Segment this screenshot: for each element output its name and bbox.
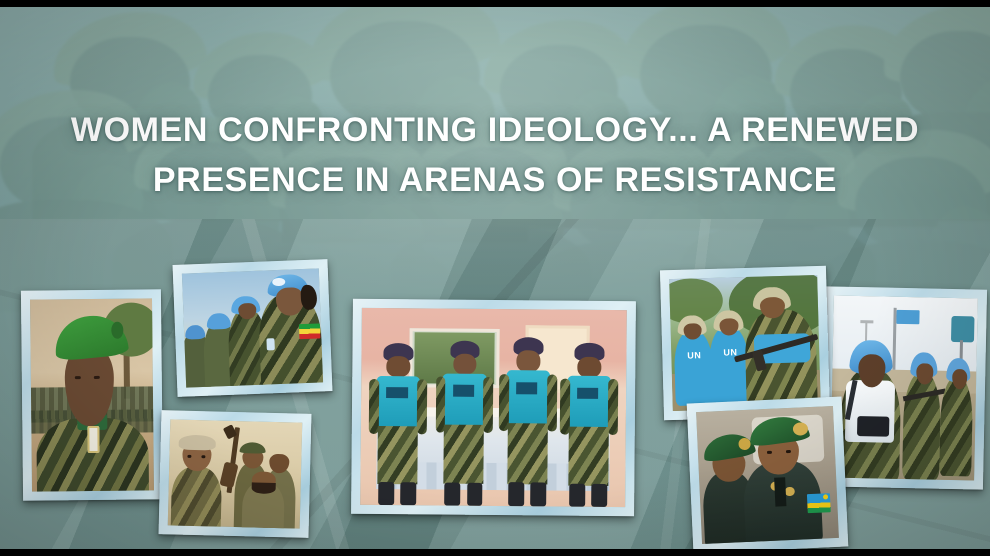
soldier-figure (437, 340, 491, 506)
letterbox-bar-top (0, 0, 990, 7)
headline-line-2: PRESENCE IN ARENAS OF RESISTANCE (0, 155, 990, 205)
photo-blue-helmet-patrol-image (830, 296, 978, 481)
soldier-figure (501, 337, 555, 507)
poster-canvas: WOMEN CONFRONTING IDEOLOGY... A RENEWED … (0, 0, 990, 556)
un-flag (897, 310, 920, 325)
photo-un-blue-beret-row-image (182, 268, 323, 387)
photo-blue-helmet-patrol[interactable] (821, 286, 987, 489)
photo-green-beret-officer-image (30, 298, 154, 491)
photo-un-patrol-image: UN UN (669, 275, 821, 411)
binoculars (857, 416, 889, 437)
photo-four-soldiers-blue-vests[interactable] (351, 299, 636, 516)
photo-four-soldiers-blue-vests-image (360, 308, 627, 507)
soldier-figure (371, 343, 425, 505)
ethiopian-flag-patch (299, 323, 320, 339)
photo-green-beret-officers-image (696, 406, 839, 544)
photo-un-blue-beret-row[interactable] (173, 259, 333, 397)
un-vest-text: UN (680, 347, 709, 365)
photo-fighters-with-rifle-image (168, 419, 303, 528)
photo-fighters-with-rifle[interactable] (159, 410, 312, 538)
photo-green-beret-officers[interactable] (687, 397, 849, 554)
photo-un-patrol[interactable]: UN UN (660, 266, 830, 421)
headline-line-1: WOMEN CONFRONTING IDEOLOGY... A RENEWED (0, 105, 990, 155)
soldier-figure (562, 343, 616, 507)
photo-green-beret-officer[interactable] (21, 289, 163, 500)
photo-collage: UN UN (0, 0, 990, 556)
letterbox-bar-bottom (0, 549, 990, 556)
poster-headline: WOMEN CONFRONTING IDEOLOGY... A RENEWED … (0, 105, 990, 205)
